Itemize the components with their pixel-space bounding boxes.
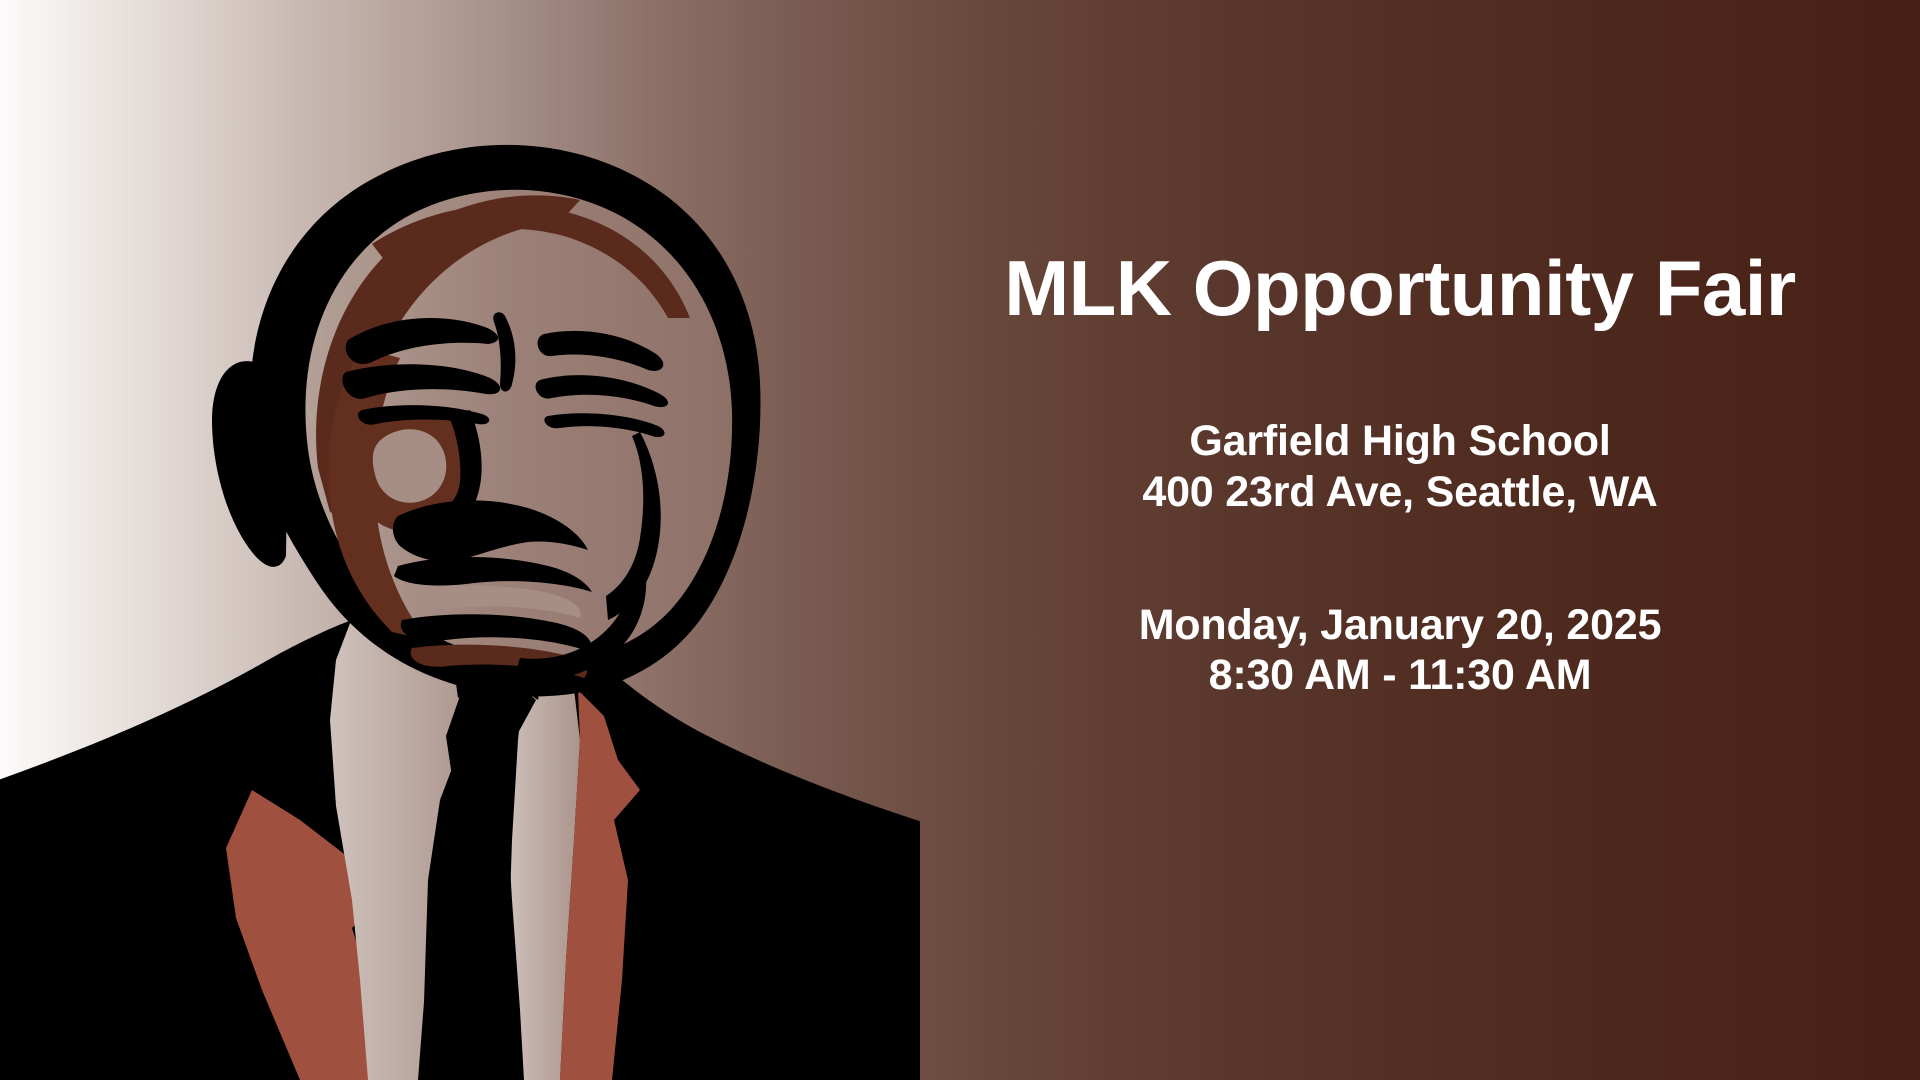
- venue-name: Garfield High School: [880, 416, 1920, 467]
- mlk-portrait-illustration: [0, 0, 920, 1080]
- venue-address: 400 23rd Ave, Seattle, WA: [880, 467, 1920, 518]
- event-time: 8:30 AM - 11:30 AM: [880, 650, 1920, 701]
- page-title: MLK Opportunity Fair: [880, 246, 1920, 330]
- schedule-group: Monday, January 20, 2025 8:30 AM - 11:30…: [880, 600, 1920, 701]
- event-text-block: MLK Opportunity Fair Garfield High Schoo…: [880, 246, 1920, 701]
- event-poster: MLK Opportunity Fair Garfield High Schoo…: [0, 0, 1920, 1080]
- venue-group: Garfield High School 400 23rd Ave, Seatt…: [880, 416, 1920, 517]
- event-date: Monday, January 20, 2025: [880, 600, 1920, 651]
